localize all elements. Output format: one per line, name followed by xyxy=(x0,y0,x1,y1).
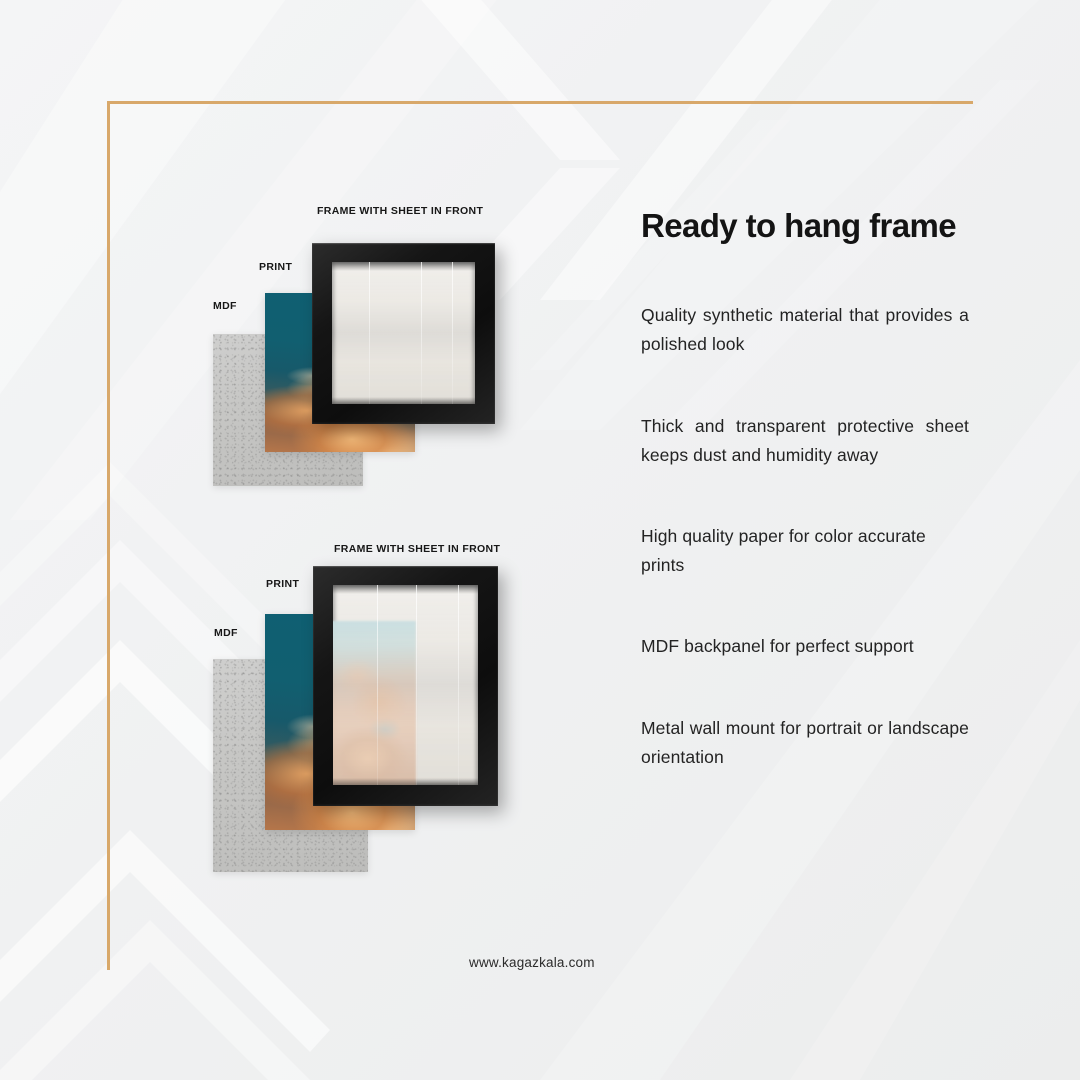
frame-2 xyxy=(313,566,498,806)
sheet-crease-2c xyxy=(458,585,459,785)
sheet-crease-2b xyxy=(416,585,417,785)
label-print-2: PRINT xyxy=(266,578,299,590)
website-url[interactable]: www.kagazkala.com xyxy=(469,955,595,970)
sheet-bottom-shadow-2 xyxy=(333,778,478,785)
portrait-mockup: FRAME WITH SHEET IN FRONT PRINT MDF xyxy=(0,0,560,900)
feature-item-3: High quality paper for color accurate pr… xyxy=(641,522,969,580)
page-title: Ready to hang frame xyxy=(641,207,956,245)
feature-item-2: Thick and transparent protective sheet k… xyxy=(641,412,969,470)
feature-item-5: Metal wall mount for portrait or landsca… xyxy=(641,714,969,772)
feature-item-4: MDF backpanel for perfect support xyxy=(641,632,969,661)
poster-canvas: FRAME WITH SHEET IN FRONT PRINT MDF xyxy=(0,0,1080,1080)
label-frame-with-sheet-2: FRAME WITH SHEET IN FRONT xyxy=(334,543,500,555)
sheet-top-shadow-2 xyxy=(333,585,478,594)
sheet-crease-2a xyxy=(377,585,378,785)
protective-sheet-2 xyxy=(333,585,478,785)
feature-item-1: Quality synthetic material that provides… xyxy=(641,301,969,359)
frame-window-2 xyxy=(333,585,478,785)
label-mdf-2: MDF xyxy=(214,627,238,639)
